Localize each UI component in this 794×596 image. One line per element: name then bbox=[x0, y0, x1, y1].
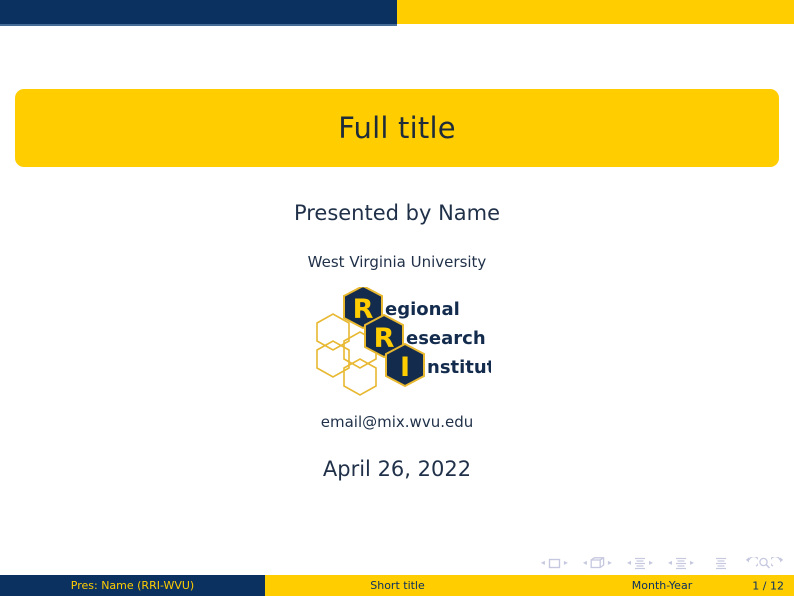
logo-letter-r2: R bbox=[374, 323, 395, 354]
footer-author-text: Pres: Name (RRI-WVU) bbox=[71, 579, 194, 592]
search-icon[interactable] bbox=[758, 557, 771, 569]
document-navigation-group[interactable] bbox=[715, 557, 727, 570]
subsection-next-icon[interactable]: ▸ bbox=[646, 559, 656, 567]
title-page-content: Presented by Name West Virginia Universi… bbox=[0, 186, 794, 481]
author-line: Presented by Name bbox=[0, 201, 794, 225]
slide-header-bar bbox=[0, 0, 794, 24]
subsection-navigation-icon[interactable] bbox=[634, 557, 646, 570]
slide-navigation-icon[interactable] bbox=[548, 558, 561, 569]
logo-word-regional: egional bbox=[385, 299, 460, 320]
slide-prev-icon[interactable]: ◂ bbox=[538, 559, 548, 567]
frame-next-icon[interactable]: ▸ bbox=[605, 559, 615, 567]
section-navigation-icon[interactable] bbox=[675, 557, 687, 570]
beamer-navigation-symbols[interactable]: ◂ ▸ ◂ ▸ ◂ ▸ ◂ bbox=[0, 552, 794, 574]
header-bar-rule bbox=[0, 24, 397, 26]
subsection-prev-icon[interactable]: ◂ bbox=[624, 559, 634, 567]
history-navigation-group[interactable] bbox=[745, 557, 784, 569]
header-bar-gold-section bbox=[397, 0, 794, 24]
frame-navigation-group[interactable]: ◂ ▸ bbox=[580, 557, 615, 569]
frame-prev-icon[interactable]: ◂ bbox=[580, 559, 590, 567]
rri-logo: R R I egional esearch nstitute bbox=[0, 287, 794, 401]
frame-navigation-icon[interactable] bbox=[590, 557, 605, 569]
logo-hexagon-i: I bbox=[386, 344, 424, 386]
section-navigation-group[interactable]: ◂ ▸ bbox=[665, 557, 697, 570]
logo-letter-i: I bbox=[400, 352, 410, 383]
footer-short-title-text: Short title bbox=[370, 579, 425, 592]
section-next-icon[interactable]: ▸ bbox=[687, 559, 697, 567]
section-prev-icon[interactable]: ◂ bbox=[665, 559, 675, 567]
footer-date-text: Month-Year bbox=[632, 579, 692, 592]
footer-date-section: Month-Year 1 / 12 bbox=[530, 575, 794, 596]
slide-navigation-group[interactable]: ◂ ▸ bbox=[538, 558, 571, 569]
footer-author-section: Pres: Name (RRI-WVU) bbox=[0, 575, 265, 596]
logo-word-institute: nstitute bbox=[427, 357, 491, 378]
title-banner: Full title bbox=[15, 89, 779, 167]
slide-footer-bar: Pres: Name (RRI-WVU) Short title Month-Y… bbox=[0, 575, 794, 596]
logo-letter-r1: R bbox=[353, 294, 374, 325]
go-forward-icon[interactable] bbox=[771, 557, 784, 569]
page-title: Full title bbox=[338, 111, 456, 145]
go-back-icon[interactable] bbox=[745, 557, 758, 569]
subsection-navigation-group[interactable]: ◂ ▸ bbox=[624, 557, 656, 570]
date-line: April 26, 2022 bbox=[0, 457, 794, 481]
header-bar-navy-section bbox=[0, 0, 397, 24]
footer-title-section: Short title bbox=[265, 575, 530, 596]
institute-line: West Virginia University bbox=[0, 253, 794, 271]
email-line: email@mix.wvu.edu bbox=[0, 413, 794, 431]
slide-next-icon[interactable]: ▸ bbox=[561, 559, 571, 567]
logo-word-research: esearch bbox=[406, 328, 486, 349]
rri-logo-graphic: R R I egional esearch nstitute bbox=[303, 287, 491, 401]
document-navigation-icon[interactable] bbox=[715, 557, 727, 570]
footer-page-number: 1 / 12 bbox=[752, 579, 784, 592]
